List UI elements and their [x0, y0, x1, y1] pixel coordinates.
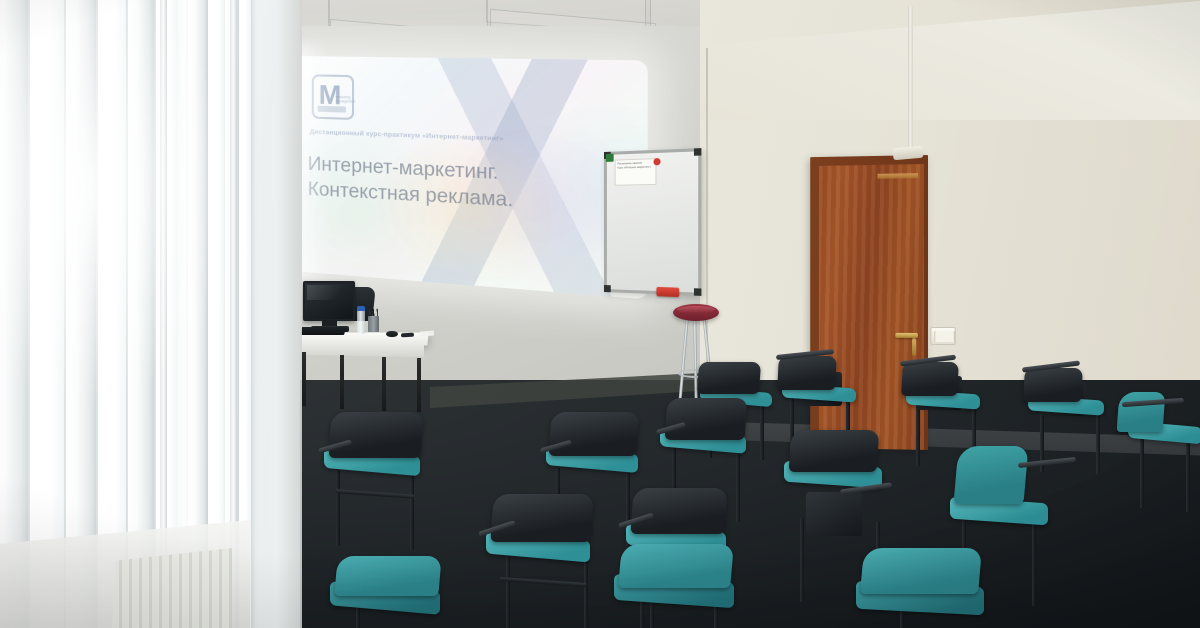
whiteboard: Расписание занятий Курс «Интернет-маркет… — [604, 148, 701, 296]
door-handle[interactable] — [895, 333, 918, 338]
whiteboard-corner — [604, 285, 611, 292]
door-leaf[interactable] — [819, 164, 924, 450]
desk-front-panel — [291, 341, 424, 357]
pinned-note: Расписание занятий Курс «Интернет-маркет… — [615, 158, 657, 186]
monitor-glare — [307, 285, 353, 300]
green-magnet — [606, 154, 614, 162]
door-escutcheon — [912, 338, 916, 356]
cable-conduit — [908, 6, 913, 161]
keyboard[interactable] — [300, 327, 346, 335]
bar-stool[interactable] — [673, 304, 719, 321]
desk-leg — [382, 357, 386, 411]
computer-mouse[interactable] — [386, 331, 398, 337]
desk-leg — [417, 358, 421, 412]
radiator — [112, 548, 232, 628]
whiteboard-eraser — [656, 287, 679, 297]
window-wall-edge — [246, 0, 302, 628]
presenter-remote[interactable] — [401, 333, 414, 338]
door-lintel-trim — [878, 173, 919, 179]
paper-sheet — [420, 331, 434, 337]
pen-cup[interactable] — [368, 316, 379, 332]
blind-slat[interactable] — [30, 0, 64, 628]
desk-leg — [302, 352, 306, 406]
training-room-photo: M marketing management Дистанционный кур… — [0, 0, 1200, 628]
red-magnet — [653, 158, 660, 165]
desk-leg — [340, 355, 344, 409]
bottle-cap — [357, 306, 365, 311]
water-bottle[interactable] — [357, 310, 365, 334]
logo-subtext: marketing management — [336, 95, 354, 104]
projected-slide: M marketing management Дистанционный кур… — [292, 56, 648, 299]
note-line-2: Курс «Интернет-маркетинг» — [618, 165, 654, 170]
whiteboard-corner — [694, 148, 701, 156]
light-switch[interactable] — [930, 327, 955, 345]
monitor[interactable] — [303, 281, 355, 321]
whiteboard-corner — [694, 288, 701, 296]
blind-slat[interactable] — [0, 0, 28, 628]
blind-slat[interactable] — [66, 0, 96, 628]
